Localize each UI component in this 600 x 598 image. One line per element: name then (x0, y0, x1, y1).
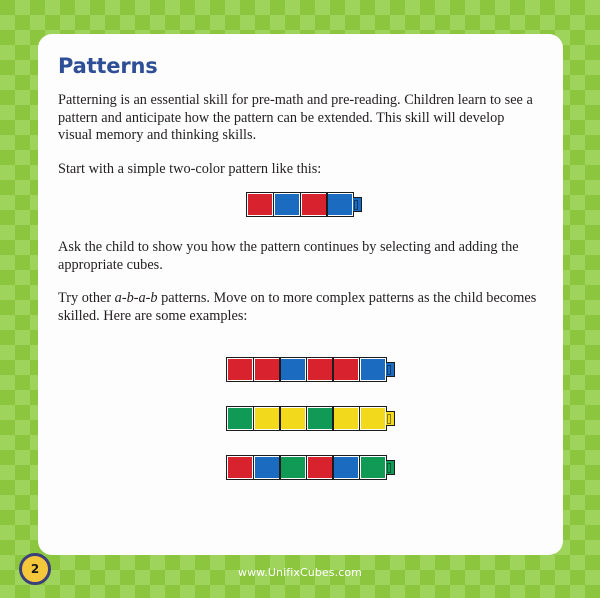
cube-red (300, 192, 328, 217)
demo-cube-row-container (58, 178, 541, 239)
cube-blue (273, 192, 301, 217)
cube-connector-nub (386, 411, 395, 426)
cube-yellow (253, 406, 281, 431)
page-background: Patterns Patterning is an essential skil… (0, 0, 600, 598)
cube-face (334, 359, 358, 380)
cube-face (275, 194, 299, 215)
cube-face (248, 194, 272, 215)
cube-face (334, 457, 358, 478)
cube-row-example-pattern-aab (226, 357, 541, 382)
cube-face (228, 457, 252, 478)
cube-yellow (359, 406, 387, 431)
cube-face (255, 457, 279, 478)
cube-face (255, 408, 279, 429)
cube-connector-nub (386, 460, 395, 475)
cube-face (308, 457, 332, 478)
cube-face (334, 408, 358, 429)
paragraph-start: Start with a simple two-color pattern li… (58, 161, 541, 179)
cube-green (279, 455, 307, 480)
content-card: Patterns Patterning is an essential skil… (38, 34, 563, 555)
cube-green (306, 406, 334, 431)
paragraph-intro: Patterning is an essential skill for pre… (58, 92, 541, 145)
cube-face (281, 408, 305, 429)
cube-connector-nub (386, 362, 395, 377)
cube-row-example-pattern-abb (226, 406, 541, 431)
cube-yellow (332, 406, 360, 431)
cube-blue (253, 455, 281, 480)
cube-red (226, 357, 254, 382)
cube-face (308, 359, 332, 380)
example-cube-rows (58, 341, 541, 480)
cube-face (228, 408, 252, 429)
cube-red (306, 357, 334, 382)
try-italic-pattern: a-b-a-b (115, 290, 158, 306)
try-prefix: Try other (58, 290, 115, 306)
cube-connector-nub (353, 197, 362, 212)
cube-row-demo (58, 192, 541, 217)
cube-face (255, 359, 279, 380)
cube-blue (326, 192, 354, 217)
footer-website-url: www.UnifixCubes.com (0, 566, 600, 579)
cube-blue (279, 357, 307, 382)
cube-red (246, 192, 274, 217)
cube-blue (359, 357, 387, 382)
cube-red (306, 455, 334, 480)
cube-face (328, 194, 352, 215)
paragraph-ask: Ask the child to show you how the patter… (58, 239, 541, 274)
cube-green (226, 406, 254, 431)
cube-face (308, 408, 332, 429)
cube-blue (332, 455, 360, 480)
cube-face (302, 194, 326, 215)
cube-face (281, 457, 305, 478)
cube-red (226, 455, 254, 480)
cube-red (253, 357, 281, 382)
paragraph-try: Try other a-b-a-b patterns. Move on to m… (58, 290, 541, 325)
cube-row-example-pattern-abc (226, 455, 541, 480)
cube-face (228, 359, 252, 380)
cube-yellow (279, 406, 307, 431)
cube-face (281, 359, 305, 380)
cube-face (361, 359, 385, 380)
cube-green (359, 455, 387, 480)
cube-red (332, 357, 360, 382)
page-title: Patterns (58, 54, 541, 78)
cube-face (361, 457, 385, 478)
cube-face (361, 408, 385, 429)
